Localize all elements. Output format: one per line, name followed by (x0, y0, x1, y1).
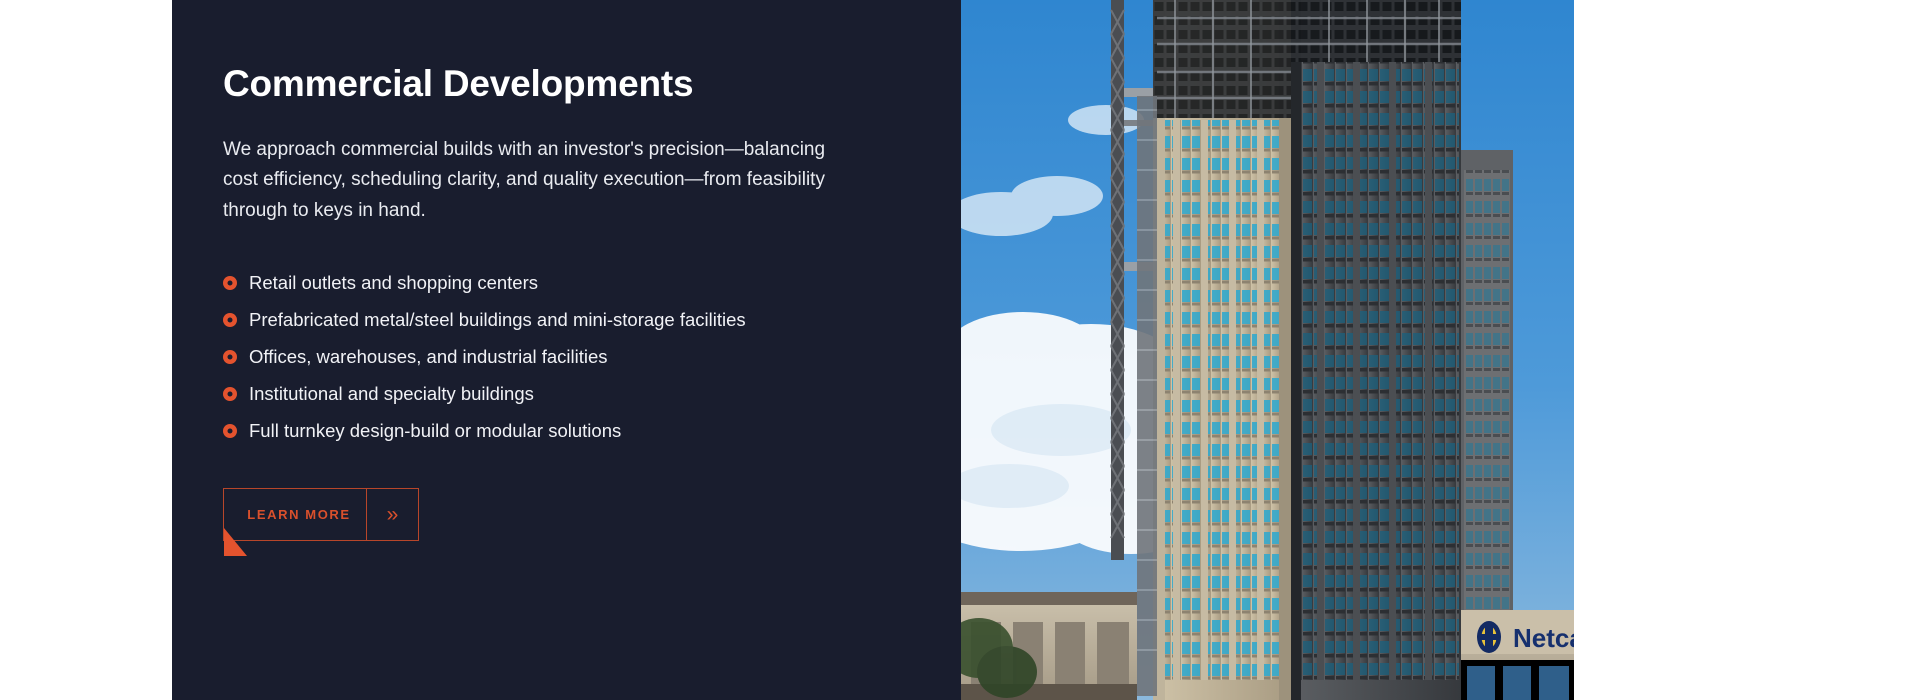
dot-ring-icon (223, 387, 237, 401)
list-item-label: Full turnkey design-build or modular sol… (249, 419, 621, 443)
right-gutter (1574, 0, 1920, 700)
intro-paragraph: We approach commercial builds with an in… (223, 135, 863, 227)
dot-ring-icon (223, 350, 237, 364)
learn-more-label: LEARN MORE (224, 489, 366, 540)
dot-ring-icon (223, 276, 237, 290)
list-item: Retail outlets and shopping centers (223, 271, 913, 295)
list-item: Institutional and specialty buildings (223, 382, 913, 406)
page-title: Commercial Developments (223, 62, 913, 106)
list-item-label: Institutional and specialty buildings (249, 382, 534, 406)
dot-ring-icon (223, 424, 237, 438)
double-chevron-right-icon: » (366, 489, 418, 540)
building-sign-text: Netca (1513, 623, 1574, 653)
podium-building-right: Netca (1461, 610, 1574, 700)
construction-photo: Netca (961, 0, 1574, 700)
list-item: Offices, warehouses, and industrial faci… (223, 345, 913, 369)
content-panel: Commercial Developments We approach comm… (172, 0, 961, 700)
netcare-logo-icon (1477, 621, 1501, 653)
left-gutter (0, 0, 172, 700)
dot-ring-icon (223, 313, 237, 327)
list-item-label: Retail outlets and shopping centers (249, 271, 538, 295)
learn-more-button[interactable]: LEARN MORE » (223, 488, 419, 541)
feature-list: Retail outlets and shopping centers Pref… (223, 271, 913, 443)
list-item-label: Offices, warehouses, and industrial faci… (249, 345, 608, 369)
tower-dark-face (1291, 0, 1461, 700)
list-item: Full turnkey design-build or modular sol… (223, 419, 913, 443)
commercial-developments-section: Commercial Developments We approach comm… (0, 0, 1920, 700)
construction-photo-image: Netca (961, 0, 1574, 700)
list-item-label: Prefabricated metal/steel buildings and … (249, 308, 746, 332)
list-item: Prefabricated metal/steel buildings and … (223, 308, 913, 332)
facade-hoist (1137, 96, 1157, 696)
